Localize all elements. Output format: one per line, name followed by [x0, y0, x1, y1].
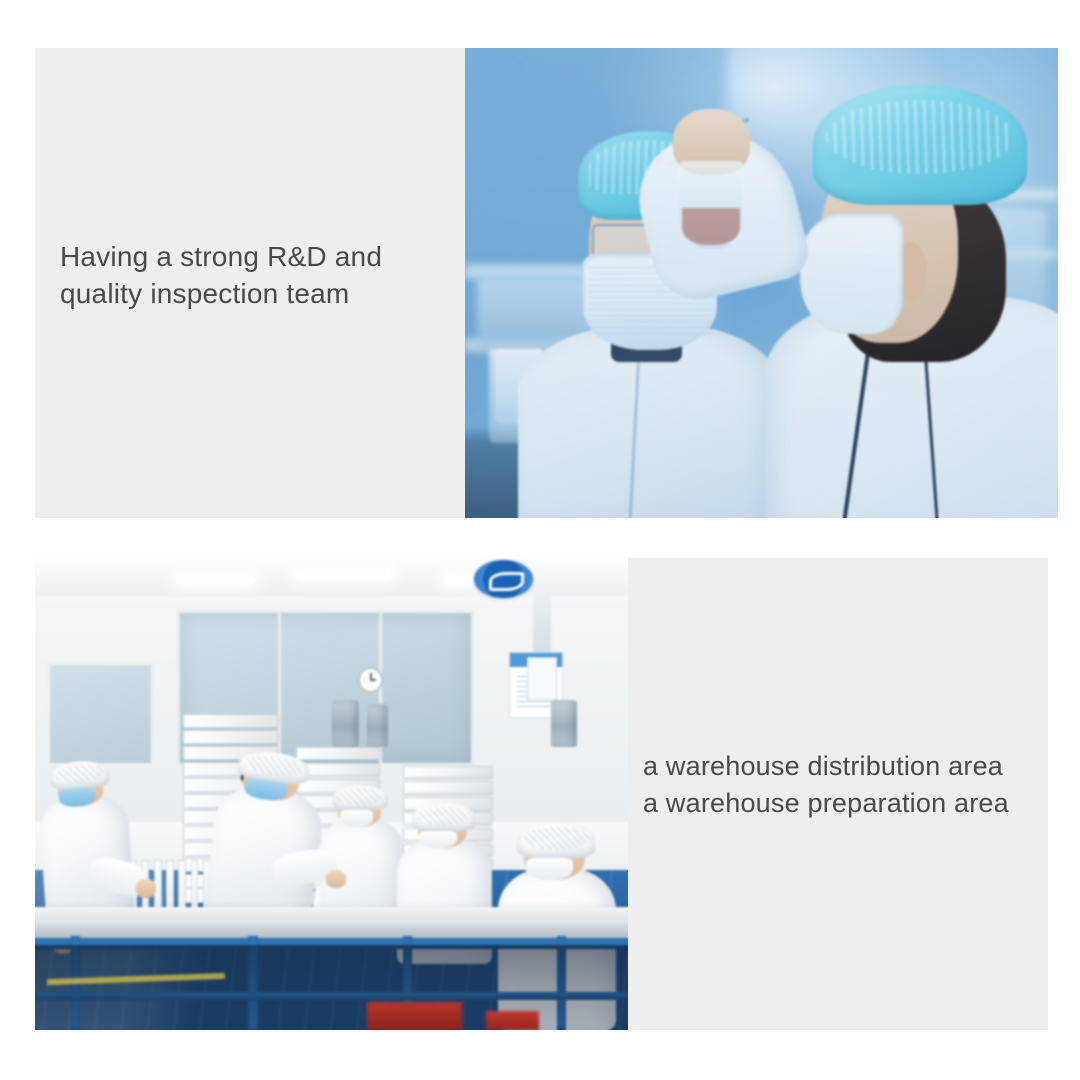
blue-circular-sign-icon [474, 560, 533, 598]
lab-coat [38, 793, 135, 924]
hairnet [412, 803, 475, 830]
page-root: Having a strong R&D and quality inspecti… [0, 0, 1080, 1080]
stainless-vessel [367, 704, 388, 746]
red-object [486, 1011, 539, 1030]
window-mullion [278, 610, 281, 766]
ceiling-light [177, 577, 254, 585]
warehouse-worker [203, 746, 330, 928]
air-duct [533, 586, 551, 652]
lab-technician-profile [738, 76, 1058, 518]
warehouse-photo [35, 558, 628, 1030]
hand [136, 879, 156, 898]
section-one-caption: Having a strong R&D and quality inspecti… [60, 238, 465, 312]
under-table-shadow [35, 945, 628, 1030]
warehouse-worker [35, 758, 135, 924]
lab-scene [465, 48, 1058, 518]
face-mask [526, 858, 573, 881]
hairnet [50, 759, 110, 790]
face-mask [800, 214, 903, 334]
section-two-caption: a warehouse distribution area a warehous… [643, 748, 1063, 823]
flask-liquid [682, 208, 740, 246]
hairnet [333, 785, 388, 811]
wall-label [527, 657, 557, 699]
section-one-panel: Having a strong R&D and quality inspecti… [35, 48, 1058, 518]
side-window [47, 662, 154, 766]
stainless-vessel [551, 700, 577, 747]
face-mask [340, 810, 373, 827]
ceiling-light [296, 570, 391, 578]
hairnet [517, 822, 595, 857]
red-object [367, 1002, 462, 1030]
wall-clock-icon [358, 667, 383, 693]
blue-hairnet [813, 85, 1026, 205]
stainless-vessel [332, 700, 359, 747]
face-mask [419, 831, 457, 849]
packing-hall-scene [35, 558, 628, 1030]
lab-photo [465, 48, 1058, 518]
hand [326, 870, 346, 889]
stainless-steel-table [35, 907, 628, 940]
section-two-panel: a warehouse distribution area a warehous… [35, 558, 1048, 1030]
